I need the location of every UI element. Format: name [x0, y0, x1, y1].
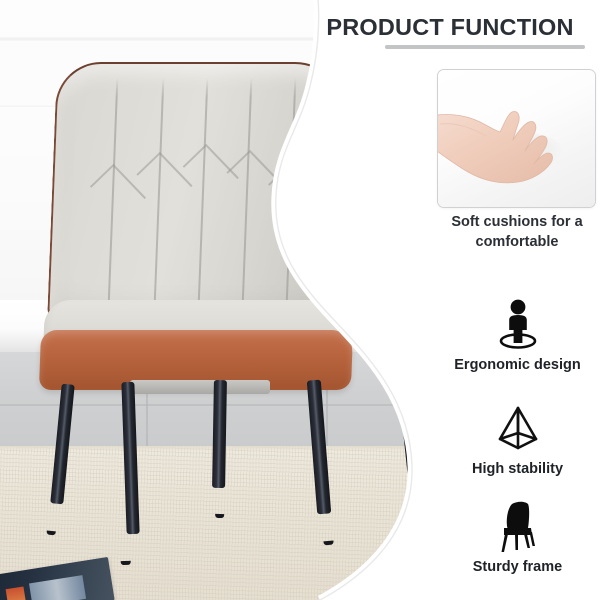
feature-label: Ergonomic design — [430, 356, 600, 374]
feature-ergonomic-design: Ergonomic design — [430, 296, 600, 374]
stitch-line — [197, 78, 208, 322]
feature-label: High stability — [430, 460, 600, 478]
product-infographic: PRODUCT FUNCTION Soft cushions for a — [0, 0, 600, 600]
stitch-line — [241, 78, 252, 322]
leg-gold-cap — [44, 495, 60, 532]
title-underline — [385, 45, 585, 49]
chevron-stitch — [136, 152, 192, 209]
chair-silhouette-icon — [430, 498, 600, 554]
feature-label: Sturdy frame — [430, 558, 600, 576]
chair-leg — [50, 384, 74, 505]
hand-icon — [437, 102, 580, 188]
page-title: PRODUCT FUNCTION — [310, 14, 590, 41]
chair-leg — [121, 382, 139, 534]
person-in-circle-icon — [430, 296, 600, 352]
feature-sturdy-frame: Sturdy frame — [430, 498, 600, 576]
chair-under-bracket — [130, 380, 270, 394]
caption-line-1: Soft cushions for a — [427, 212, 600, 232]
chair-backrest — [47, 62, 347, 322]
leg-gold-cap — [213, 482, 227, 515]
stitch-line — [285, 78, 296, 322]
content-panel: PRODUCT FUNCTION Soft cushions for a — [320, 0, 600, 600]
chair-leg — [212, 380, 227, 488]
feature-high-stability: High stability — [430, 400, 600, 478]
soft-cushion-caption: Soft cushions for a comfortable — [427, 212, 600, 252]
leg-gold-cap — [117, 526, 132, 562]
chevron-stitch — [268, 162, 324, 219]
caption-line-2: comfortable — [427, 232, 600, 252]
pyramid-wireframe-icon — [430, 400, 600, 456]
soft-cushion-photo-card — [437, 69, 596, 208]
